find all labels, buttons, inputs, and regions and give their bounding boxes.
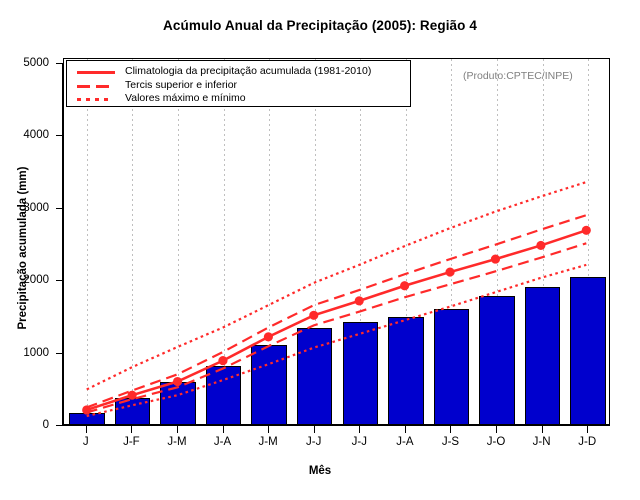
x-tick-label: J-M [259, 436, 278, 448]
x-tick-label: J-J [306, 436, 321, 448]
x-tick-mark [223, 426, 224, 433]
x-tick-label: J-S [442, 436, 459, 448]
series-marker [218, 356, 227, 365]
series-marker [400, 281, 409, 290]
y-tick-mark [56, 63, 63, 64]
y-tick-label: 1000 [23, 347, 49, 359]
series-marker [536, 241, 545, 250]
legend-label: Tercis superior e inferior [125, 79, 237, 91]
x-tick-mark [359, 426, 360, 433]
y-tick-mark [56, 135, 63, 136]
x-tick-label: J-A [396, 436, 413, 448]
series-marker [128, 391, 137, 400]
series-marker [264, 332, 273, 341]
y-tick-label: 0 [43, 419, 49, 431]
legend-solid-line-icon [77, 71, 115, 74]
x-tick-mark [131, 426, 132, 433]
series-marker [445, 267, 454, 276]
series-marker [82, 405, 91, 414]
legend-item-extremes: Valores máximo e mínimo [67, 92, 410, 107]
x-tick-label: J-F [123, 436, 140, 448]
y-tick-label: 2000 [23, 274, 49, 286]
series-line [87, 230, 587, 410]
x-tick-label: J-A [214, 436, 231, 448]
x-tick-label: J-O [487, 436, 506, 448]
y-tick-mark [56, 208, 63, 209]
x-tick-mark [587, 426, 588, 433]
x-tick-mark [314, 426, 315, 433]
chart-title: Acúmulo Anual da Precipitação (2005): Re… [0, 18, 640, 33]
series-overlay [64, 59, 609, 424]
legend-item-climatology: Climatologia da precipitação acumulada (… [67, 65, 410, 80]
series-marker [173, 377, 182, 386]
y-axis-title: Precipitação acumulada (mm) [17, 133, 29, 363]
chart-figure: Acúmulo Anual da Precipitação (2005): Re… [0, 0, 640, 500]
y-tick-mark [56, 353, 63, 354]
series-line [87, 215, 587, 407]
x-tick-mark [496, 426, 497, 433]
chart-legend: Climatologia da precipitação acumulada (… [66, 60, 411, 107]
x-tick-mark [268, 426, 269, 433]
x-tick-mark [450, 426, 451, 433]
x-tick-label: J-J [352, 436, 367, 448]
plot-inner [64, 59, 609, 424]
x-axis-line [63, 425, 610, 426]
x-tick-label: J [83, 436, 89, 448]
plot-area [63, 58, 610, 425]
series-marker [309, 311, 318, 320]
series-marker [582, 226, 591, 235]
x-tick-mark [86, 426, 87, 433]
y-tick-mark [56, 280, 63, 281]
y-tick-label: 3000 [23, 202, 49, 214]
x-tick-mark [177, 426, 178, 433]
series-line [87, 182, 587, 389]
y-tick-label: 4000 [23, 129, 49, 141]
source-annotation: (Produto:CPTEC/INPE) [463, 70, 573, 82]
y-tick-mark [56, 425, 63, 426]
y-axis: Precipitação acumulada (mm) 010002000300… [0, 0, 63, 500]
series-marker [491, 255, 500, 264]
legend-dashed-line-icon [77, 85, 115, 88]
x-tick-label: J-N [533, 436, 551, 448]
x-tick-label: J-D [578, 436, 596, 448]
legend-label: Climatologia da precipitação acumulada (… [125, 65, 371, 77]
legend-dotted-line-icon [77, 98, 115, 101]
x-tick-mark [405, 426, 406, 433]
legend-label: Valores máximo e mínimo [125, 92, 246, 104]
x-tick-mark [542, 426, 543, 433]
x-tick-label: J-M [167, 436, 186, 448]
series-marker [355, 296, 364, 305]
y-tick-label: 5000 [23, 57, 49, 69]
x-axis-title: Mês [0, 465, 640, 477]
series-line [87, 265, 587, 416]
